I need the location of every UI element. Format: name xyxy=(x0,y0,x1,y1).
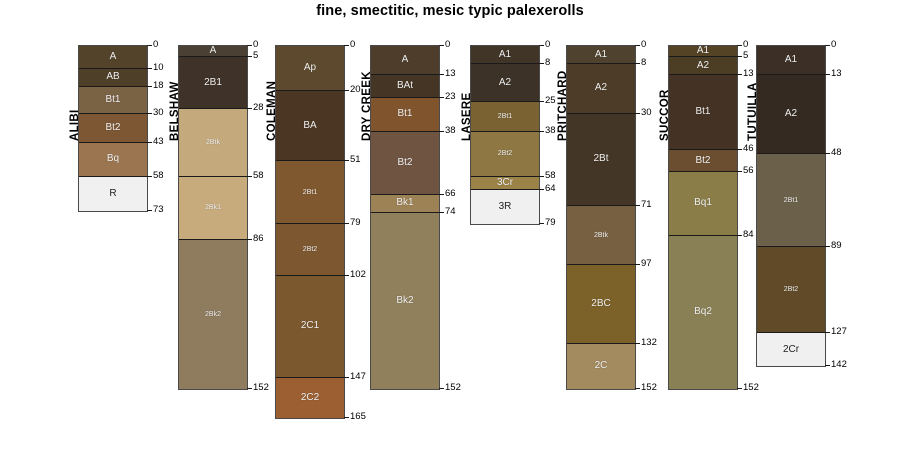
horizon-label: A2 xyxy=(697,61,709,71)
axis-tick-label: 48 xyxy=(831,148,842,158)
profile-column: A2B12Btk2Bk12Bk2 xyxy=(178,45,248,390)
axis-tick xyxy=(147,45,152,46)
axis-tick-label: 25 xyxy=(545,96,556,106)
axis-tick-label: 18 xyxy=(153,81,164,91)
horizon-label: 2Bt2 xyxy=(784,286,798,293)
axis-tick xyxy=(539,63,544,64)
soil-horizon[interactable]: 2C2 xyxy=(276,378,344,419)
axis-tick xyxy=(439,388,444,389)
soil-horizon[interactable]: Bq xyxy=(79,143,147,177)
axis-tick xyxy=(635,63,640,64)
axis-tick xyxy=(439,74,444,75)
horizon-label: BA xyxy=(303,121,316,131)
soil-horizon[interactable]: A2 xyxy=(669,57,737,75)
horizon-label: 2Bt xyxy=(593,154,608,164)
axis-tick-label: 8 xyxy=(641,58,646,68)
axis-tick xyxy=(825,246,830,247)
soil-horizon[interactable]: A xyxy=(371,46,439,75)
axis-tick xyxy=(247,56,252,57)
axis-tick-label: 23 xyxy=(445,92,456,102)
axis-tick xyxy=(737,74,742,75)
horizon-label: A2 xyxy=(785,109,797,119)
soil-horizon[interactable]: 2Btk xyxy=(179,109,247,177)
axis-tick xyxy=(247,239,252,240)
horizon-label: Ap xyxy=(304,63,316,73)
horizon-label: 2Bt2 xyxy=(303,246,317,253)
axis-tick xyxy=(344,90,349,91)
axis-tick xyxy=(635,388,640,389)
axis-tick xyxy=(539,176,544,177)
horizon-label: Bt2 xyxy=(397,158,412,168)
axis-tick-label: 102 xyxy=(350,270,366,280)
axis-tick xyxy=(247,388,252,389)
axis-tick xyxy=(439,212,444,213)
axis-tick xyxy=(737,388,742,389)
axis-tick-label: 0 xyxy=(545,40,550,50)
soil-horizon[interactable]: Bq2 xyxy=(669,236,737,389)
horizon-label: 2Cr xyxy=(783,345,799,355)
soil-horizon[interactable]: A2 xyxy=(471,64,539,102)
soil-horizon[interactable]: 2Bt1 xyxy=(276,161,344,224)
soil-horizon[interactable]: Bt2 xyxy=(669,150,737,173)
profile-column: ApBA2Bt12Bt22C12C2 xyxy=(275,45,345,419)
profile-column: A1A22Bt2Btk2BC2C xyxy=(566,45,636,390)
axis-tick xyxy=(737,171,742,172)
axis-tick xyxy=(635,113,640,114)
soil-horizon[interactable]: 2C xyxy=(567,344,635,389)
axis-tick xyxy=(344,417,349,418)
axis-tick xyxy=(539,45,544,46)
horizon-label: 2Bk1 xyxy=(205,204,221,211)
axis-tick xyxy=(825,332,830,333)
soil-horizon[interactable]: 2Bt2 xyxy=(471,132,539,177)
axis-tick xyxy=(147,68,152,69)
soil-horizon[interactable]: 3R xyxy=(471,190,539,224)
horizon-label: 2BC xyxy=(591,299,610,309)
horizon-label: Bq xyxy=(107,154,119,164)
axis-tick xyxy=(247,176,252,177)
axis-tick xyxy=(147,113,152,114)
horizon-label: 3Cr xyxy=(497,178,513,188)
axis-tick-label: 84 xyxy=(743,230,754,240)
horizon-label: Bt1 xyxy=(695,107,710,117)
profile-column: A1A2Bt1Bt2Bq1Bq2 xyxy=(668,45,738,390)
axis-tick xyxy=(635,343,640,344)
axis-tick-label: 0 xyxy=(350,40,355,50)
horizon-label: 3R xyxy=(499,202,512,212)
soil-horizon[interactable]: Bt1 xyxy=(79,87,147,114)
soil-horizon[interactable]: 2Bt xyxy=(567,114,635,207)
axis-tick-label: 132 xyxy=(641,338,657,348)
horizon-label: A xyxy=(110,52,117,62)
axis-tick xyxy=(539,101,544,102)
soil-horizon[interactable]: BA xyxy=(276,91,344,161)
soil-horizon[interactable]: 2Bt2 xyxy=(276,224,344,276)
soil-profile-chart: fine, smectitic, mesic typic palexerolls… xyxy=(0,0,900,450)
soil-horizon[interactable]: Bt1 xyxy=(669,75,737,149)
axis-tick xyxy=(344,275,349,276)
profile-column: ABAtBt1Bt2Bk1Bk2 xyxy=(370,45,440,390)
axis-tick xyxy=(825,153,830,154)
axis-tick-label: 56 xyxy=(743,166,754,176)
soil-horizon[interactable]: 2Bt2 xyxy=(757,247,825,333)
axis-tick-label: 5 xyxy=(743,51,748,61)
soil-horizon[interactable]: 2Btk xyxy=(567,206,635,265)
profile-column: A1A22Bt12Bt23Cr3R xyxy=(470,45,540,225)
axis-tick-label: 79 xyxy=(545,218,556,228)
axis-tick-label: 165 xyxy=(350,412,366,422)
axis-tick xyxy=(439,194,444,195)
soil-horizon[interactable]: R xyxy=(79,177,147,211)
axis-tick xyxy=(635,264,640,265)
horizon-label: 2Bt2 xyxy=(498,150,512,157)
axis-tick-label: 46 xyxy=(743,144,754,154)
axis-tick xyxy=(439,131,444,132)
soil-horizon[interactable]: 2Cr xyxy=(757,333,825,367)
axis-tick-label: 58 xyxy=(153,171,164,181)
soil-horizon[interactable]: 2B1 xyxy=(179,57,247,109)
axis-tick-label: 38 xyxy=(545,126,556,136)
axis-tick xyxy=(825,45,830,46)
axis-tick-label: 0 xyxy=(445,40,450,50)
axis-tick-label: 13 xyxy=(743,69,754,79)
axis-tick-label: 73 xyxy=(153,205,164,215)
axis-tick-label: 71 xyxy=(641,200,652,210)
axis-tick xyxy=(635,45,640,46)
axis-tick-label: 13 xyxy=(831,69,842,79)
axis-tick-label: 13 xyxy=(445,69,456,79)
soil-horizon[interactable]: Bt2 xyxy=(371,132,439,195)
axis-tick-label: 0 xyxy=(641,40,646,50)
axis-tick-label: 8 xyxy=(545,58,550,68)
axis-tick-label: 152 xyxy=(641,383,657,393)
soil-horizon[interactable]: A xyxy=(179,46,247,57)
horizon-label: R xyxy=(109,189,116,199)
horizon-label: A1 xyxy=(785,55,797,65)
axis-tick-label: 43 xyxy=(153,137,164,147)
axis-tick-label: 58 xyxy=(545,171,556,181)
horizon-label: Bk1 xyxy=(396,198,413,208)
axis-tick xyxy=(439,97,444,98)
horizon-label: 2C xyxy=(595,361,608,371)
horizon-label: 2Bt1 xyxy=(784,197,798,204)
axis-tick xyxy=(344,45,349,46)
axis-tick xyxy=(247,108,252,109)
soil-horizon[interactable]: A1 xyxy=(567,46,635,64)
axis-tick-label: 86 xyxy=(253,234,264,244)
horizon-label: Bq2 xyxy=(694,307,712,317)
axis-tick-label: 58 xyxy=(253,171,264,181)
horizon-label: A1 xyxy=(595,50,607,60)
profile-column: A1A22Bt12Bt22Cr xyxy=(756,45,826,367)
soil-horizon[interactable]: 2C1 xyxy=(276,276,344,378)
horizon-label: 2C1 xyxy=(301,321,319,331)
axis-tick xyxy=(737,235,742,236)
soil-horizon[interactable]: A1 xyxy=(757,46,825,75)
soil-horizon[interactable]: 2Bk2 xyxy=(179,240,247,389)
soil-horizon[interactable]: 3Cr xyxy=(471,177,539,191)
axis-tick-label: 28 xyxy=(253,103,264,113)
axis-tick xyxy=(539,189,544,190)
axis-tick-label: 20 xyxy=(350,85,361,95)
axis-tick xyxy=(635,205,640,206)
axis-tick-label: 0 xyxy=(831,40,836,50)
soil-horizon[interactable]: BAt xyxy=(371,75,439,98)
soil-horizon[interactable]: 2Bk1 xyxy=(179,177,247,240)
axis-tick-label: 0 xyxy=(153,40,158,50)
axis-tick-label: 127 xyxy=(831,327,847,337)
axis-tick-label: 152 xyxy=(253,383,269,393)
horizon-label: 2Btk xyxy=(206,139,220,146)
soil-horizon[interactable]: A2 xyxy=(567,64,635,114)
axis-tick xyxy=(247,45,252,46)
soil-horizon[interactable]: Bt1 xyxy=(371,98,439,132)
horizon-label: A2 xyxy=(499,78,511,88)
chart-title: fine, smectitic, mesic typic palexerolls xyxy=(0,3,900,19)
axis-tick xyxy=(147,142,152,143)
horizon-label: Bt1 xyxy=(397,109,412,119)
axis-tick xyxy=(439,45,444,46)
horizon-label: Bk2 xyxy=(396,296,413,306)
axis-tick-label: 30 xyxy=(153,108,164,118)
axis-tick-label: 152 xyxy=(743,383,759,393)
soil-horizon[interactable]: A xyxy=(79,46,147,69)
axis-tick xyxy=(539,223,544,224)
axis-tick xyxy=(344,160,349,161)
axis-tick xyxy=(737,45,742,46)
axis-tick xyxy=(147,176,152,177)
horizon-label: A2 xyxy=(595,83,607,93)
axis-tick-label: 51 xyxy=(350,155,361,165)
horizon-label: A1 xyxy=(697,46,709,56)
axis-tick xyxy=(737,56,742,57)
axis-tick xyxy=(147,210,152,211)
soil-horizon[interactable]: Bk2 xyxy=(371,213,439,389)
soil-horizon[interactable]: Bt2 xyxy=(79,114,147,143)
soil-horizon[interactable]: AB xyxy=(79,69,147,87)
axis-tick-label: 5 xyxy=(253,51,258,61)
axis-tick-label: 66 xyxy=(445,189,456,199)
axis-tick-label: 38 xyxy=(445,126,456,136)
axis-tick-label: 147 xyxy=(350,372,366,382)
axis-tick xyxy=(147,86,152,87)
horizon-label: A xyxy=(402,55,409,65)
horizon-label: Bt2 xyxy=(695,156,710,166)
horizon-label: 2C2 xyxy=(301,393,319,403)
horizon-label: 2Btk xyxy=(594,232,608,239)
axis-tick-label: 142 xyxy=(831,360,847,370)
soil-horizon[interactable]: A1 xyxy=(471,46,539,64)
soil-horizon[interactable]: A2 xyxy=(757,75,825,154)
axis-tick-label: 10 xyxy=(153,63,164,73)
horizon-label: Bq1 xyxy=(694,198,712,208)
axis-tick-label: 30 xyxy=(641,108,652,118)
axis-tick-label: 79 xyxy=(350,218,361,228)
soil-horizon[interactable]: Ap xyxy=(276,46,344,91)
horizon-label: 2Bk2 xyxy=(205,311,221,318)
profile-column: AABBt1Bt2BqR xyxy=(78,45,148,212)
axis-tick-label: 97 xyxy=(641,259,652,269)
horizon-label: 2Bt1 xyxy=(498,113,512,120)
axis-tick xyxy=(825,365,830,366)
axis-tick-label: 0 xyxy=(253,40,258,50)
axis-tick xyxy=(825,74,830,75)
horizon-label: Bt2 xyxy=(105,123,120,133)
axis-tick-label: 89 xyxy=(831,241,842,251)
axis-tick-label: 64 xyxy=(545,184,556,194)
horizon-label: A xyxy=(210,46,217,56)
axis-tick-label: 74 xyxy=(445,207,456,217)
soil-horizon[interactable]: Bq1 xyxy=(669,172,737,235)
horizon-label: 2Bt1 xyxy=(303,189,317,196)
soil-horizon[interactable]: 2Bt1 xyxy=(471,102,539,131)
axis-tick xyxy=(539,131,544,132)
axis-tick xyxy=(737,149,742,150)
soil-horizon[interactable]: A1 xyxy=(669,46,737,57)
soil-horizon[interactable]: 2BC xyxy=(567,265,635,344)
soil-horizon[interactable]: 2Bt1 xyxy=(757,154,825,247)
horizon-label: AB xyxy=(106,72,119,82)
horizon-label: A1 xyxy=(499,50,511,60)
axis-tick-label: 0 xyxy=(743,40,748,50)
axis-tick xyxy=(344,223,349,224)
soil-horizon[interactable]: Bk1 xyxy=(371,195,439,213)
horizon-label: 2B1 xyxy=(204,78,222,88)
horizon-label: BAt xyxy=(397,81,413,91)
horizon-label: Bt1 xyxy=(105,95,120,105)
axis-tick-label: 152 xyxy=(445,383,461,393)
axis-tick xyxy=(344,377,349,378)
